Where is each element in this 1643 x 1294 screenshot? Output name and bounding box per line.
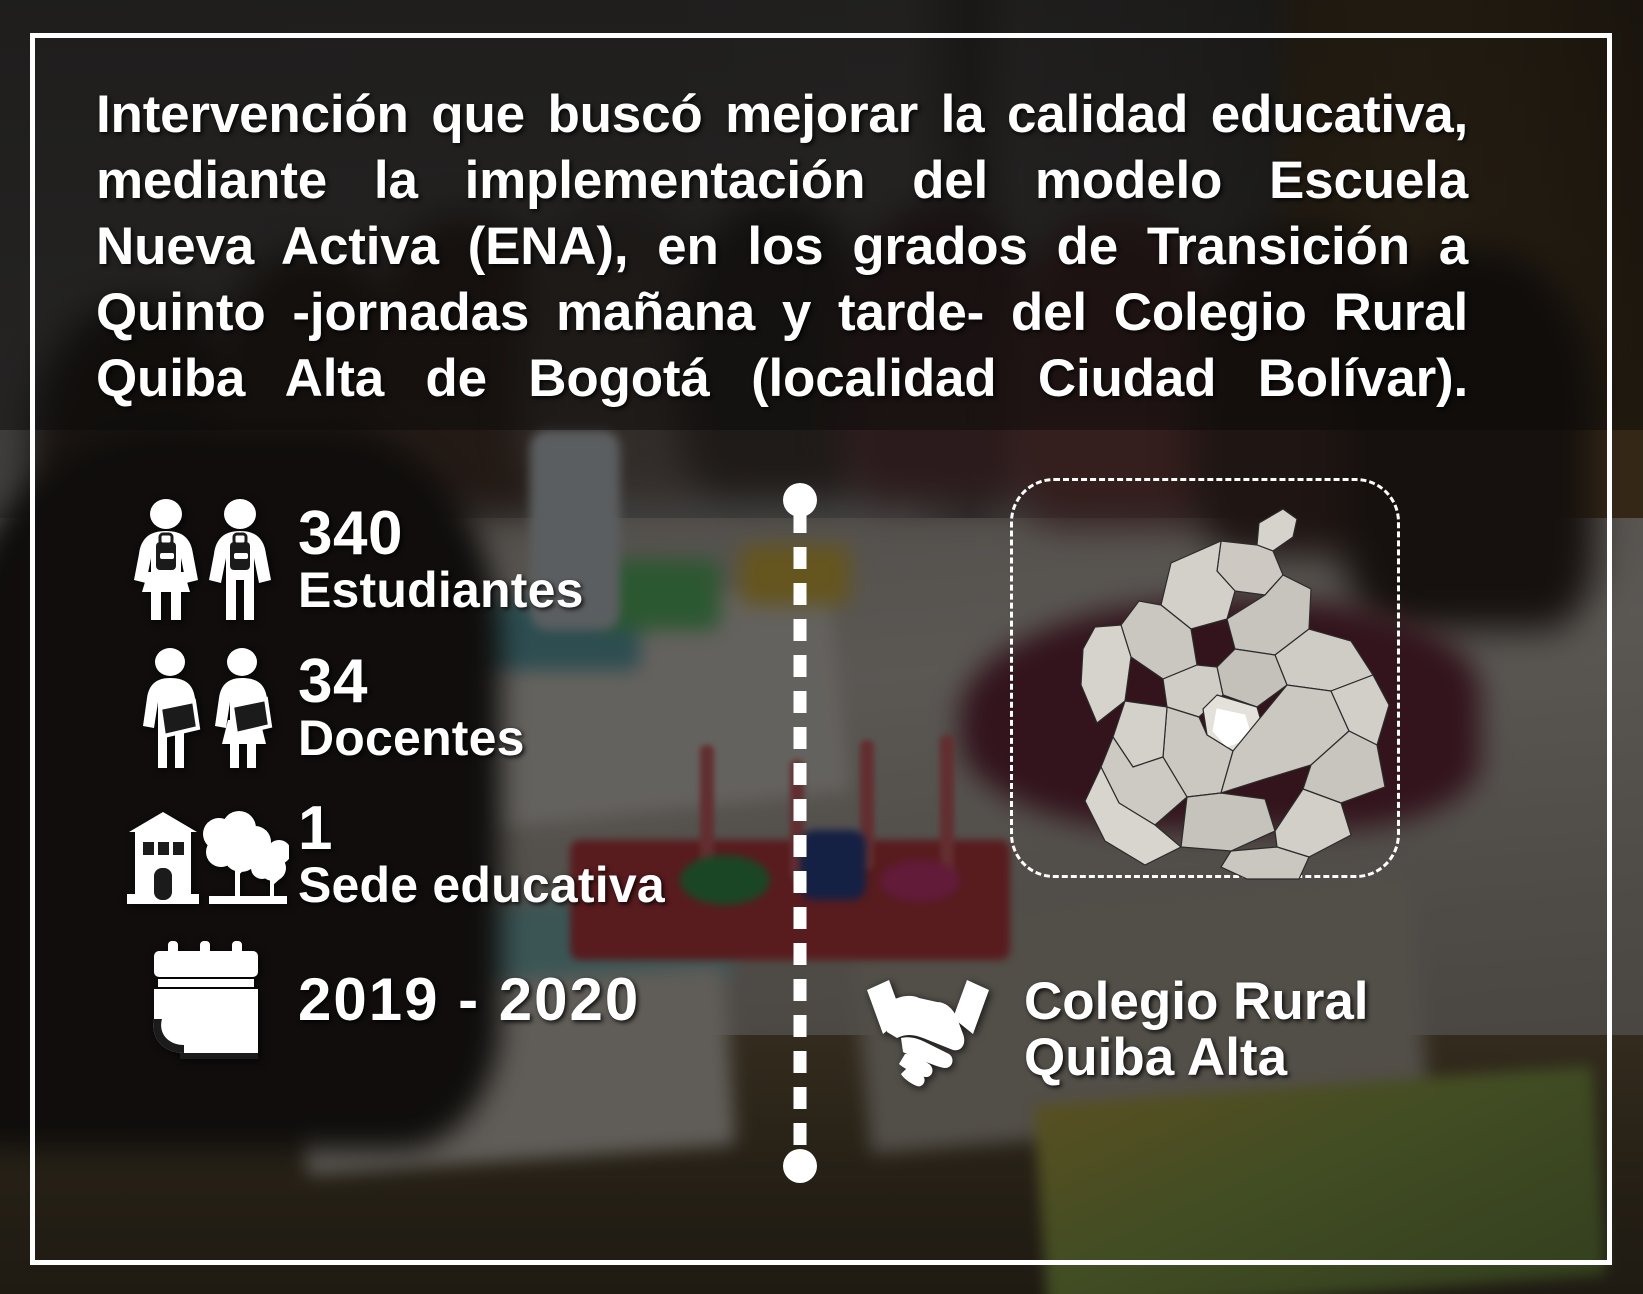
stat-teachers-text: 34 Docentes <box>294 650 525 764</box>
colombia-map <box>1021 479 1401 883</box>
divider-dot-bottom <box>783 1149 817 1183</box>
school-building-icon <box>118 798 294 910</box>
calendar-icon <box>118 941 294 1059</box>
partner-block: Colegio Rural Quiba Alta <box>846 972 1369 1088</box>
stat-students-text: 340 Estudiantes <box>294 502 584 616</box>
statistics-list: 340 Estudiantes 3 <box>118 498 758 1086</box>
handshake-icon <box>846 972 1010 1088</box>
stat-campus-label: Sede educativa <box>298 860 665 911</box>
vertical-dashed-divider <box>781 483 819 1183</box>
stat-teachers: 34 Docentes <box>118 646 758 768</box>
stat-campus-text: 1 Sede educativa <box>294 797 665 911</box>
stat-students-label: Estudiantes <box>298 565 584 616</box>
stat-campus-value: 1 <box>298 797 665 860</box>
stat-students-value: 340 <box>298 502 584 565</box>
divider-dashed-line <box>794 511 807 1155</box>
infographic-slide: Intervención que buscó mejorar la calida… <box>0 0 1643 1294</box>
stat-teachers-value: 34 <box>298 650 525 713</box>
stat-teachers-label: Docentes <box>298 713 525 764</box>
stat-campus: 1 Sede educativa <box>118 794 758 914</box>
teachers-icon <box>118 646 294 768</box>
stat-students: 340 Estudiantes <box>118 498 758 620</box>
stat-period-value: 2019 - 2020 <box>298 969 640 1030</box>
stat-period-text: 2019 - 2020 <box>294 969 640 1030</box>
stat-period: 2019 - 2020 <box>118 940 758 1060</box>
partner-name: Colegio Rural Quiba Alta <box>1010 974 1369 1086</box>
page-title: Intervención que buscó mejorar la calida… <box>96 82 1468 478</box>
colombia-map-panel <box>1010 478 1400 878</box>
students-icon <box>118 498 294 620</box>
